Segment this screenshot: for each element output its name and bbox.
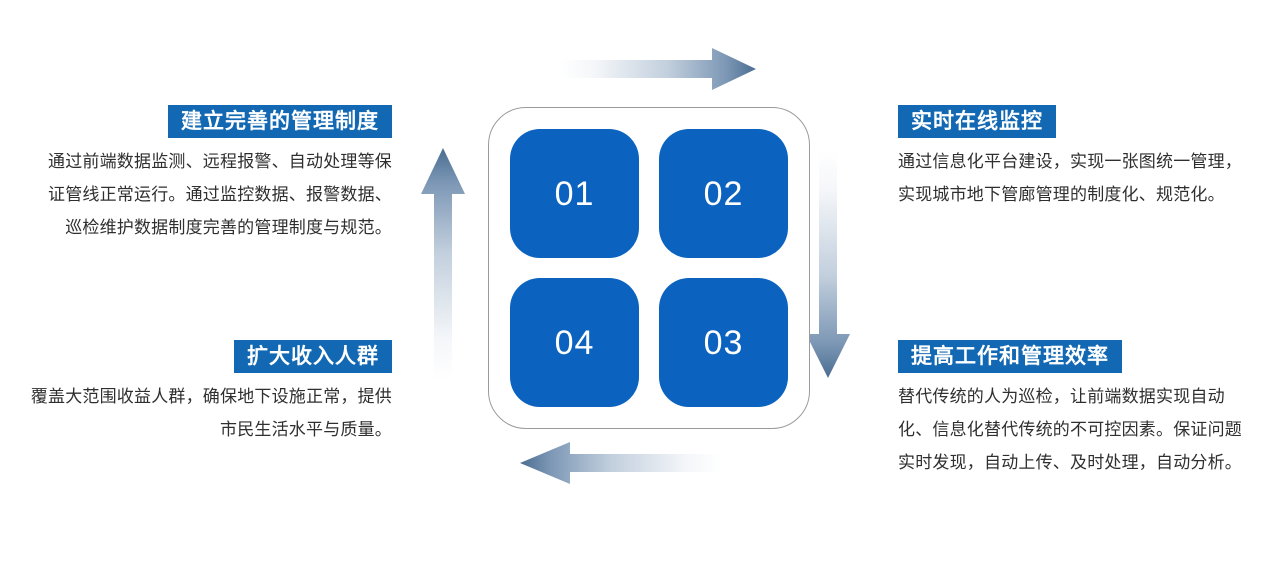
body-bottom-left: 覆盖大范围收益人群，确保地下设施正常，提供市民生活水平与质量。	[30, 380, 392, 446]
text-block-bottom-right: 提高工作和管理效率 替代传统的人为巡检，让前端数据实现自动化、信息化替代传统的不…	[898, 340, 1254, 479]
body-top-left: 通过前端数据监测、远程报警、自动处理等保证管线正常运行。通过监控数据、报警数据、…	[40, 145, 392, 244]
arrow-top-right-icon	[560, 48, 756, 90]
tile-04-label: 04	[555, 326, 595, 360]
text-block-top-left: 建立完善的管理制度 通过前端数据监测、远程报警、自动处理等保证管线正常运行。通过…	[40, 105, 392, 244]
text-block-top-right: 实时在线监控 通过信息化平台建设，实现一张图统一管理，实现城市地下管廊管理的制度…	[898, 105, 1254, 211]
tile-04[interactable]: 04	[510, 278, 639, 407]
diagram-canvas: 建立完善的管理制度 通过前端数据监测、远程报警、自动处理等保证管线正常运行。通过…	[0, 0, 1271, 587]
tile-02[interactable]: 02	[659, 129, 788, 258]
text-block-bottom-left: 扩大收入人群 覆盖大范围收益人群，确保地下设施正常，提供市民生活水平与质量。	[30, 340, 392, 446]
badge-bottom-left: 扩大收入人群	[234, 340, 392, 373]
arrow-down-icon	[806, 150, 850, 378]
tile-03[interactable]: 03	[659, 278, 788, 407]
body-top-right: 通过信息化平台建设，实现一张图统一管理，实现城市地下管廊管理的制度化、规范化。	[898, 145, 1254, 211]
tile-01[interactable]: 01	[510, 129, 639, 258]
tile-01-label: 01	[555, 177, 595, 211]
badge-bottom-right: 提高工作和管理效率	[898, 340, 1122, 373]
arrow-left-icon	[520, 442, 722, 484]
badge-top-left: 建立完善的管理制度	[168, 105, 392, 138]
center-diagram: 01 02 03 04	[488, 107, 810, 429]
arrow-up-icon	[421, 148, 465, 380]
badge-top-right: 实时在线监控	[898, 105, 1056, 138]
tile-02-label: 02	[704, 177, 744, 211]
tile-03-label: 03	[704, 326, 744, 360]
body-bottom-right: 替代传统的人为巡检，让前端数据实现自动化、信息化替代传统的不可控因素。保证问题实…	[898, 380, 1254, 479]
